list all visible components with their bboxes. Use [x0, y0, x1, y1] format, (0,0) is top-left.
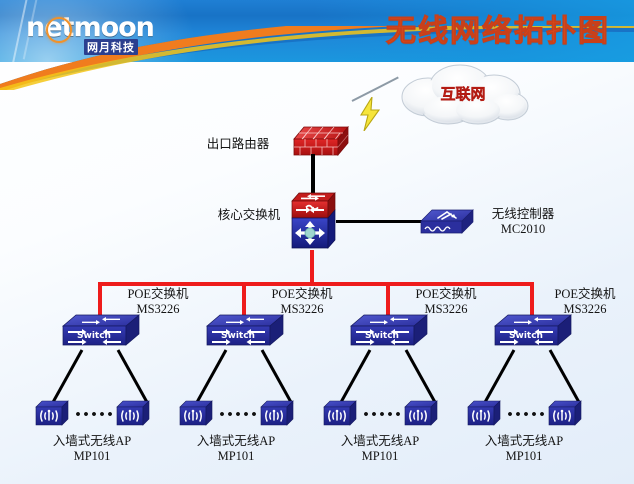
poe-switch-label-group: POE交换机 MS3226	[110, 287, 206, 318]
wireless-ap-icon	[116, 400, 150, 426]
poe-switch-label: POE交换机	[540, 287, 630, 302]
egress-router	[292, 125, 350, 159]
ap-peer-dotted-link	[506, 412, 544, 416]
wireless-ap	[323, 400, 357, 426]
wlc-label: 无线控制器	[448, 207, 598, 222]
wireless-ap-icon	[404, 400, 438, 426]
core-switch-icon	[291, 192, 337, 254]
poe-switch-label: POE交换机	[398, 287, 494, 302]
wireless-ap-icon	[467, 400, 501, 426]
ap-label: 入墙式无线AP	[474, 434, 574, 449]
wireless-ap-icon	[323, 400, 357, 426]
coreswitch-trunk-drop	[310, 250, 314, 282]
ap-uplink-links	[0, 340, 634, 420]
ap-model: MP101	[42, 449, 142, 464]
ap-peer-dotted-link	[74, 412, 112, 416]
lightning-bolt-icon	[358, 97, 382, 131]
ap-label-group: 入墙式无线AP MP101	[42, 434, 142, 465]
topology-diagram-page: netmoon 网月科技 无线网络拓扑图	[0, 0, 634, 484]
ap-label-group: 入墙式无线AP MP101	[186, 434, 286, 465]
wireless-ap-icon	[548, 400, 582, 426]
logo-ring-icon	[46, 17, 72, 43]
logo-subtitle: 网月科技	[84, 39, 138, 55]
poe-switch-label-group: POE交换机 MS3226	[254, 287, 350, 318]
wireless-ap	[404, 400, 438, 426]
wireless-ap	[35, 400, 69, 426]
poe-switch-label: POE交换机	[110, 287, 206, 302]
wlc-model: MC2010	[448, 222, 598, 237]
ap-label-group: 入墙式无线AP MP101	[474, 434, 574, 465]
wireless-ap	[467, 400, 501, 426]
internet-cloud: 互联网	[386, 64, 540, 126]
core-switch-label-group: 核心交换机	[209, 208, 289, 223]
ap-model: MP101	[474, 449, 574, 464]
wireless-ap	[548, 400, 582, 426]
wireless-ap-icon	[179, 400, 213, 426]
coreswitch-wlc-link	[336, 220, 422, 223]
ap-model: MP101	[330, 449, 430, 464]
ap-label: 入墙式无线AP	[186, 434, 286, 449]
router-label-group: 出口路由器	[195, 137, 281, 152]
poe-trunk-bus	[98, 282, 534, 286]
router-label: 出口路由器	[195, 137, 281, 152]
page-title: 无线网络拓扑图	[386, 6, 610, 50]
ap-label: 入墙式无线AP	[42, 434, 142, 449]
wireless-ap	[179, 400, 213, 426]
brand-logo: netmoon 网月科技	[26, 12, 178, 54]
firewall-router-icon	[292, 125, 350, 159]
core-switch	[291, 192, 337, 254]
ap-peer-dotted-link	[218, 412, 256, 416]
wireless-ap	[260, 400, 294, 426]
poe-switch-label-group: POE交换机 MS3226	[540, 287, 630, 318]
wireless-ap-icon	[35, 400, 69, 426]
core-switch-label: 核心交换机	[209, 208, 289, 223]
wireless-ap-icon	[260, 400, 294, 426]
ap-label-group: 入墙式无线AP MP101	[330, 434, 430, 465]
poe-switch-label-group: POE交换机 MS3226	[398, 287, 494, 318]
wireless-ap	[116, 400, 150, 426]
ap-peer-dotted-link	[362, 412, 400, 416]
poe-switch-label: POE交换机	[254, 287, 350, 302]
wlc-label-group: 无线控制器 MC2010	[448, 207, 598, 238]
ap-label: 入墙式无线AP	[330, 434, 430, 449]
ap-model: MP101	[186, 449, 286, 464]
internet-cloud-label: 互联网	[386, 83, 540, 104]
